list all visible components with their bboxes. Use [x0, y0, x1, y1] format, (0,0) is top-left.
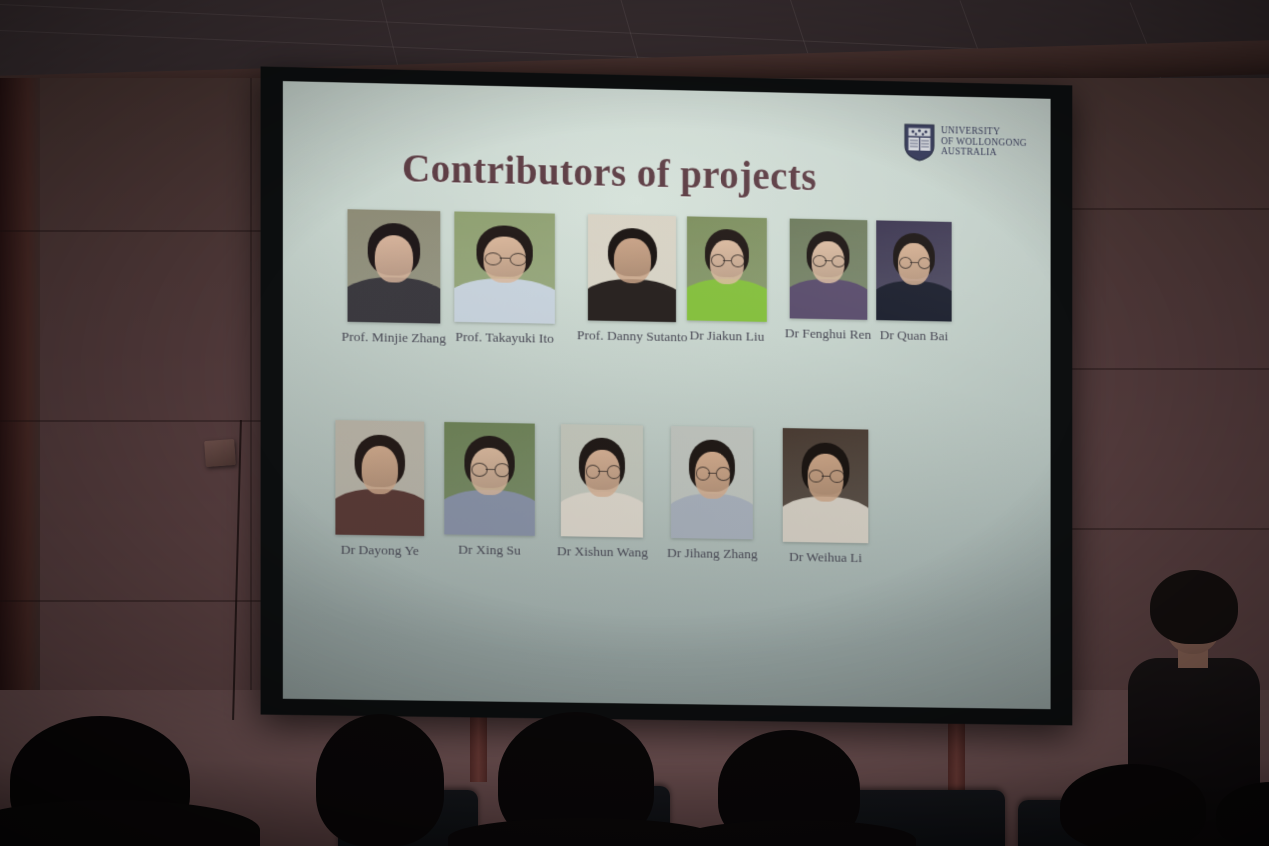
- contributor-entry: Dr Fenghui Ren: [785, 218, 872, 342]
- photo-glasses: [731, 255, 745, 268]
- photo-torso: [783, 496, 869, 543]
- contributor-photo: [561, 424, 643, 538]
- projection-screen: Contributors of projects: [283, 81, 1051, 709]
- logo-text-block: UNIVERSITY OF WOLLONGONG AUSTRALIA: [941, 124, 1027, 159]
- photo-glasses-bridge: [821, 475, 830, 477]
- contributor-photo: [876, 220, 951, 321]
- photo-face: [374, 235, 413, 283]
- contributor-row-2: Dr Dayong YeDr Xing SuDr Xishun WangDr J…: [283, 419, 1051, 433]
- contributor-photo: [444, 422, 534, 536]
- contributor-name: Dr Jiakun Liu: [687, 327, 767, 345]
- photo-glasses-bridge: [598, 471, 606, 473]
- photo-torso: [335, 489, 424, 536]
- contributor-name: Dr Xing Su: [444, 541, 534, 558]
- contributor-photo: [671, 426, 753, 539]
- contributor-entry: Dr Jihang Zhang: [667, 426, 758, 562]
- photo-glasses: [918, 257, 931, 269]
- contributor-name: Prof. Takayuki Ito: [454, 329, 554, 347]
- projection-screen-frame: Contributors of projects: [261, 66, 1073, 725]
- contributor-name: Dr Dayong Ye: [335, 542, 424, 559]
- contributor-name: Prof. Danny Sutanto: [577, 327, 688, 345]
- contributor-photo: [687, 216, 767, 322]
- photo-glasses-bridge: [500, 258, 510, 260]
- audience-head: [316, 714, 444, 846]
- photo-glasses-bridge: [723, 260, 731, 262]
- photo-torso: [789, 278, 867, 320]
- contributor-name: Dr Jihang Zhang: [667, 545, 758, 562]
- photo-glasses-bridge: [910, 262, 918, 264]
- contributor-name: Dr Quan Bai: [876, 327, 951, 344]
- photo-glasses: [607, 465, 621, 478]
- contributor-photo: [783, 428, 869, 543]
- photo-torso: [561, 491, 643, 537]
- photo-glasses-bridge: [708, 473, 716, 475]
- contributor-entry: Prof. Takayuki Ito: [454, 211, 554, 346]
- contributor-entry: Prof. Minjie Zhang: [341, 209, 446, 347]
- logo-line-3: AUSTRALIA: [941, 147, 1027, 159]
- contributor-photo: [335, 420, 424, 536]
- photo-torso: [444, 489, 534, 536]
- contributor-entry: Prof. Danny Sutanto: [577, 214, 688, 345]
- contributor-name: Prof. Minjie Zhang: [341, 329, 446, 347]
- contributor-name: Dr Xishun Wang: [557, 543, 648, 560]
- contributor-entry: Dr Xing Su: [444, 422, 534, 559]
- photo-glasses: [832, 255, 846, 267]
- photo-glasses-bridge: [485, 469, 494, 471]
- university-logo: UNIVERSITY OF WOLLONGONG AUSTRALIA: [904, 123, 1027, 164]
- contributor-name: Dr Weihua Li: [783, 549, 869, 566]
- contributor-photo: [347, 209, 440, 323]
- lecture-room-photo: Contributors of projects: [0, 0, 1269, 846]
- contributor-name: Dr Fenghui Ren: [785, 325, 872, 343]
- slide-title: Contributors of projects: [402, 146, 902, 202]
- contributor-row-1: Prof. Minjie ZhangProf. Takayuki ItoProf…: [283, 208, 1051, 224]
- photo-torso: [347, 276, 440, 323]
- photo-glasses-bridge: [824, 260, 832, 262]
- contributor-entry: Dr Jiakun Liu: [687, 216, 767, 344]
- photo-glasses: [716, 467, 730, 480]
- photo-torso: [876, 280, 951, 322]
- photo-glasses: [494, 463, 510, 476]
- contributor-entry: Dr Dayong Ye: [335, 420, 424, 559]
- photo-glasses: [510, 252, 527, 265]
- contributor-entry: Dr Quan Bai: [876, 220, 951, 344]
- photo-torso: [671, 493, 753, 539]
- contributor-entry: Dr Xishun Wang: [557, 424, 648, 561]
- contributor-photo: [588, 214, 676, 322]
- contributor-photo: [789, 219, 867, 320]
- wall-bracket: [204, 439, 236, 467]
- photo-face: [361, 446, 398, 495]
- contributor-entry: Dr Weihua Li: [783, 428, 869, 566]
- shield-crest-icon: [904, 123, 935, 162]
- photo-torso: [454, 277, 554, 323]
- presentation-slide: Contributors of projects: [283, 81, 1051, 709]
- photo-torso: [588, 278, 676, 322]
- photo-torso: [687, 279, 767, 322]
- contributor-photo: [454, 211, 554, 323]
- audience-head: [1060, 764, 1206, 846]
- photo-face: [614, 238, 651, 283]
